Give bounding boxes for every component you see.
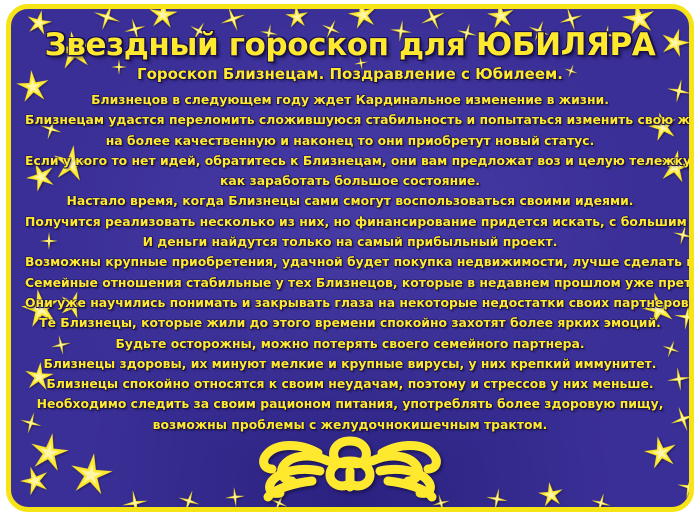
horoscope-line: на более качественную и наконец то они п… (25, 131, 675, 151)
horoscope-line: Близнецам удастся переломить сложившуюся… (25, 110, 675, 130)
horoscope-line: Необходимо следить за своим рационом пит… (25, 394, 675, 414)
horoscope-line: Близнецы спокойно относятся к своим неуд… (25, 374, 675, 394)
horoscope-line: как заработать большое состояние. (25, 171, 675, 191)
horoscope-line: Настало время, когда Близнецы сами смогу… (25, 191, 675, 211)
horoscope-line: И деньги найдутся только на самый прибыл… (25, 232, 675, 252)
horoscope-line: Близнецы здоровы, их минуют мелкие и кру… (25, 354, 675, 374)
horoscope-line: Близнецов в следующем году ждет Кардинал… (25, 90, 675, 110)
horoscope-line: Если у кого то нет идей, обратитесь к Бл… (25, 151, 675, 171)
page-title: Звездный гороскоп для ЮБИЛЯРА (11, 27, 689, 63)
poster-subtitle: Гороскоп Близнецам. Поздравление с Юбиле… (11, 65, 689, 83)
poster-card: Звездный гороскоп для ЮБИЛЯРА Гороскоп Б… (6, 4, 694, 512)
horoscope-text-body: Близнецов в следующем году ждет Кардинал… (25, 90, 675, 435)
horoscope-line: Они уже научились понимать и закрывать г… (25, 293, 675, 313)
bottom-flourish-ornament (200, 431, 500, 501)
horoscope-line: Будьте осторожны, можно потерять своего … (25, 334, 675, 354)
horoscope-line: Возможны крупные приобретения, удачной б… (25, 252, 675, 272)
horoscope-poster: Звездный гороскоп для ЮБИЛЯРА Гороскоп Б… (0, 0, 700, 523)
horoscope-line: Получится реализовать несколько из них, … (25, 212, 675, 232)
horoscope-line: Те Близнецы, которые жили до этого време… (25, 313, 675, 333)
horoscope-line: Семейные отношения стабильные у тех Близ… (25, 273, 675, 293)
